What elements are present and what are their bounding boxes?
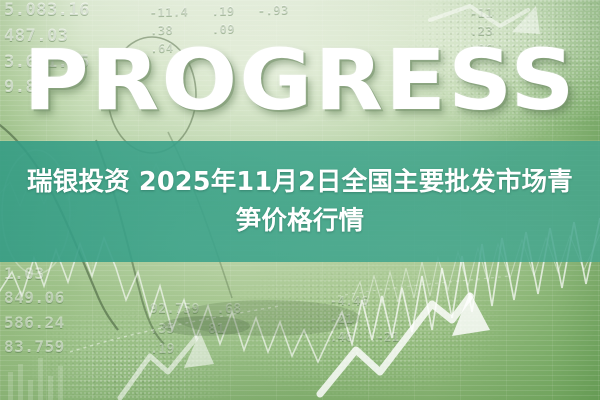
rising-arrow-small-shaft xyxy=(120,338,196,398)
cover-image: 5.083.16 487.03 3.691.25 9.87 -11.4 .19 … xyxy=(0,0,600,400)
blur-smudge-secondary xyxy=(162,316,250,336)
caption-title: 瑞银投资 2025年11月2日全国主要批发市场青笋价格行情 xyxy=(26,163,574,241)
pencil-ellipse-icon xyxy=(108,37,196,153)
bar-chart-stubs xyxy=(8,358,63,400)
upper-arrow-shaft xyxy=(430,6,528,26)
caption-line-2: 笋价格行情 xyxy=(236,206,365,236)
caption-line-1: 瑞银投资 2025年11月2日全国主要批发市场青 xyxy=(27,167,573,197)
caption-band: 瑞银投资 2025年11月2日全国主要批发市场青笋价格行情 xyxy=(0,141,600,262)
